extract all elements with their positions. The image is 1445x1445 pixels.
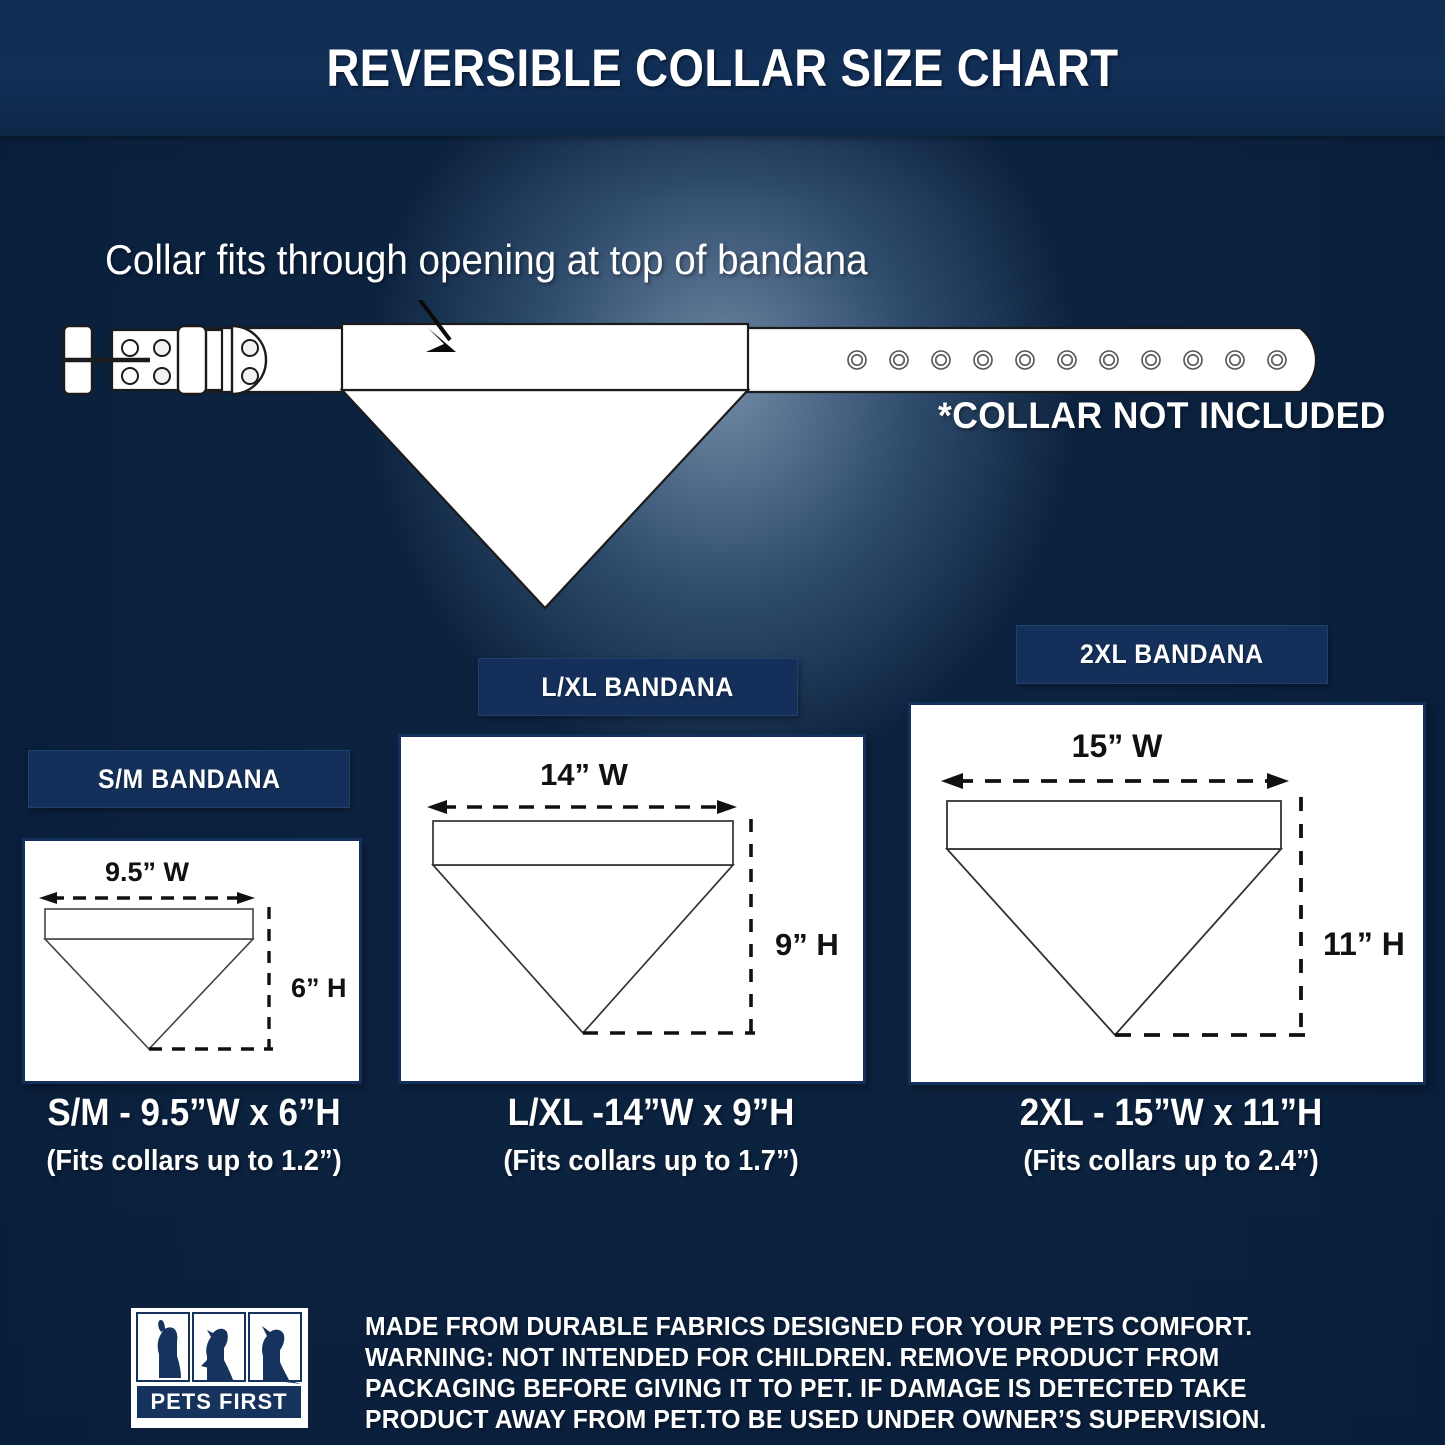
size-chart-page: REVERSIBLE COLLAR SIZE CHART Collar fits… [0,0,1445,1445]
bandana-sleeve-sm [45,909,253,939]
bandana-triangle-sm [45,939,253,1049]
logo-dog-panels [137,1313,301,1384]
panel-card-lxl: 14” W 9” H [398,734,866,1084]
hero-bandana [330,300,790,610]
diagram-sm: 9.5” W 6” H [25,841,359,1081]
caption-sm-line1: S/M - 9.5”W x 6”H [16,1092,373,1135]
dim-width-label-sm: 9.5” W [105,857,190,887]
dim-width-arrow-left-2xl [941,773,963,789]
logo-brand-text: PETS FIRST [150,1389,287,1414]
hero-bandana-triangle [342,390,748,608]
panel-label-lxl-text: L/XL BANDANA [542,672,734,703]
callout-text: Collar fits through opening at top of ba… [105,236,868,284]
caption-lxl-line1: L/XL -14”W x 9”H [467,1092,835,1135]
bandana-sleeve-2xl [947,801,1281,849]
panel-label-2xl: 2XL BANDANA [1016,625,1328,684]
bandana-triangle-2xl [947,849,1281,1035]
hero-bandana-sleeve [342,324,748,390]
header-band: REVERSIBLE COLLAR SIZE CHART [0,0,1445,136]
caption-2xl-line2: (Fits collars up to 2.4”) [977,1145,1364,1178]
diagram-2xl: 15” W 11” H [911,705,1423,1082]
caption-2xl-line1: 2XL - 15”W x 11”H [981,1092,1360,1135]
bandana-sleeve-lxl [433,821,733,865]
dim-height-label-2xl: 11” H [1323,926,1405,962]
dim-width-arrow-left-lxl [427,800,447,814]
page-title: REVERSIBLE COLLAR SIZE CHART [326,38,1118,99]
panel-card-2xl: 15” W 11” H [908,702,1426,1085]
dim-width-label-lxl: 14” W [540,757,629,792]
dim-height-label-sm: 6” H [291,973,347,1003]
panel-label-sm: S/M BANDANA [28,750,350,808]
diagram-lxl: 14” W 9” H [401,737,863,1081]
collar-not-included-note: *COLLAR NOT INCLUDED [938,395,1386,437]
disclaimer-line-3: PACKAGING BEFORE GIVING IT TO PET. IF DA… [365,1374,1311,1405]
caption-sm: S/M - 9.5”W x 6”H (Fits collars up to 1.… [0,1092,388,1178]
disclaimer: MADE FROM DURABLE FABRICS DESIGNED FOR Y… [365,1312,1340,1436]
disclaimer-line-1: MADE FROM DURABLE FABRICS DESIGNED FOR Y… [365,1312,1311,1343]
bandana-triangle-lxl [433,865,733,1033]
caption-lxl: L/XL -14”W x 9”H (Fits collars up to 1.7… [451,1092,851,1178]
dim-width-arrow-right-lxl [717,800,737,814]
dim-width-arrow-right-sm [237,892,255,904]
buckle-keeper-loop [178,326,206,394]
dim-height-label-lxl: 9” H [775,927,839,962]
panel-label-lxl: L/XL BANDANA [478,658,798,716]
dim-width-arrow-left-sm [39,892,57,904]
disclaimer-line-2: WARNING: NOT INTENDED FOR CHILDREN. REMO… [365,1343,1311,1374]
disclaimer-line-4: PRODUCT AWAY FROM PET.TO BE USED UNDER O… [365,1405,1311,1436]
dim-width-arrow-right-2xl [1267,773,1289,789]
caption-sm-line2: (Fits collars up to 1.2”) [12,1145,377,1178]
caption-2xl: 2XL - 15”W x 11”H (Fits collars up to 2.… [965,1092,1377,1178]
caption-lxl-line2: (Fits collars up to 1.7”) [463,1145,839,1178]
pets-first-logo: PETS FIRST [131,1308,308,1428]
dim-width-label-2xl: 15” W [1072,728,1163,764]
panel-card-sm: 9.5” W 6” H [22,838,362,1084]
panel-label-2xl-text: 2XL BANDANA [1080,639,1264,670]
panel-label-sm-text: S/M BANDANA [98,764,281,795]
